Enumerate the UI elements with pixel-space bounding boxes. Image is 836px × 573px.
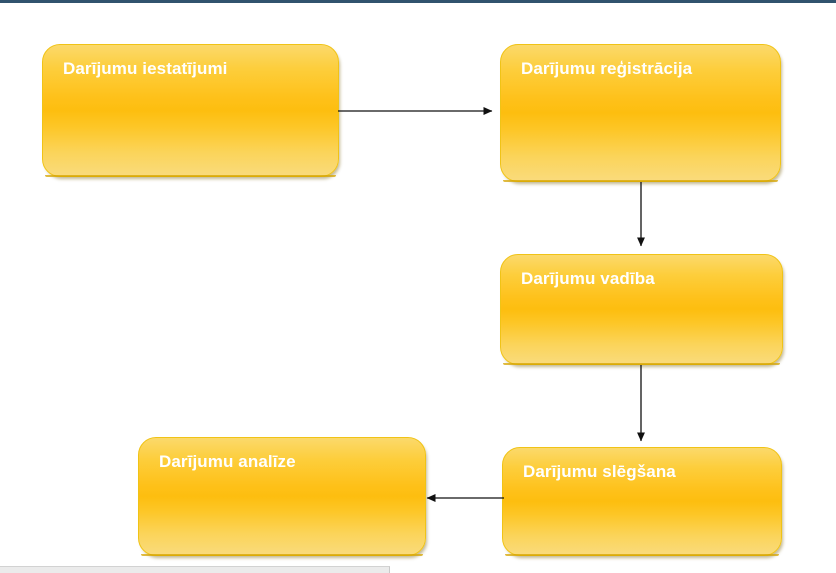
connector-settings-to-registration (334, 98, 510, 124)
flow-node-closing-label: Darījumu slēgšana (523, 461, 767, 482)
flow-node-analysis[interactable]: Darījumu analīze (138, 437, 426, 556)
top-accent-rule (0, 0, 836, 3)
flow-node-analysis-label: Darījumu analīze (159, 451, 411, 472)
slide-canvas: Darījumu iestatījumi Darījumu reģistrāci… (0, 0, 836, 573)
flow-node-management-label: Darījumu vadība (521, 268, 768, 289)
connector-closing-to-analysis (418, 486, 510, 512)
flow-node-registration[interactable]: Darījumu reģistrācija (500, 44, 781, 182)
flow-node-management[interactable]: Darījumu vadība (500, 254, 783, 365)
connector-registration-to-management (628, 178, 654, 260)
flow-node-settings-label: Darījumu iestatījumi (63, 58, 324, 79)
connector-management-to-closing (628, 362, 654, 454)
flow-node-settings[interactable]: Darījumu iestatījumi (42, 44, 339, 177)
flow-node-closing[interactable]: Darījumu slēgšana (502, 447, 782, 556)
flow-node-registration-label: Darījumu reģistrācija (521, 58, 766, 79)
bottom-status-panel (0, 566, 390, 573)
